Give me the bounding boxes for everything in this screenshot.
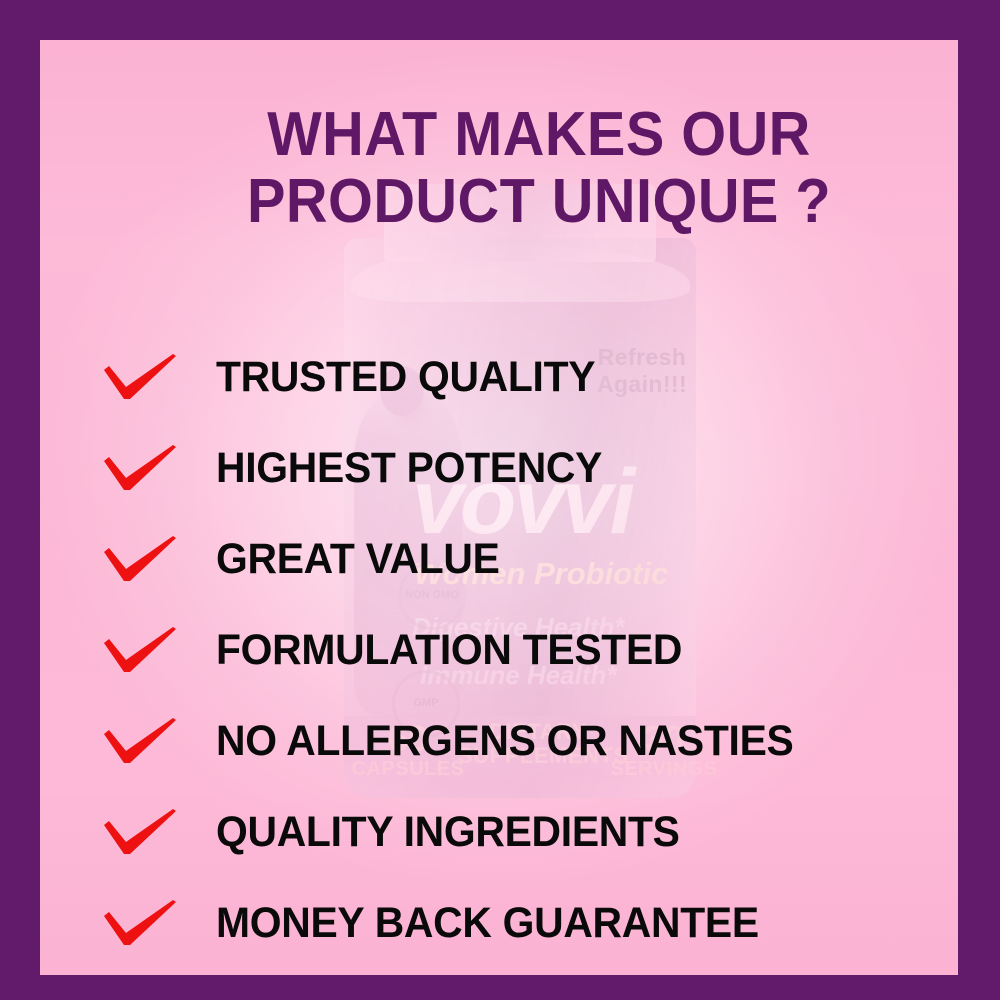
checklist-item: TRUSTED QUALITY [104,332,958,423]
checklist-item-label: QUALITY INGREDIENTS [216,811,680,854]
bottle-shoulder-shape [350,246,690,302]
checkmark-icon [104,627,176,675]
checklist-item: HIGHEST POTENCY [104,423,958,514]
checklist-item-label: FORMULATION TESTED [216,629,682,672]
checkmark-icon [104,900,176,948]
checkmark-icon [104,354,176,402]
checkmark-icon [104,536,176,584]
checklist-item: QUALITY INGREDIENTS [104,787,958,878]
benefits-checklist: TRUSTED QUALITYHIGHEST POTENCYGREAT VALU… [104,332,958,969]
checklist-item: MONEY BACK GUARANTEE [104,878,958,969]
checkmark-icon [104,809,176,857]
checklist-item-label: HIGHEST POTENCY [216,447,602,490]
checklist-item-label: MONEY BACK GUARANTEE [216,902,759,945]
page-title: WHAT MAKES OUR PRODUCT UNIQUE ? [112,102,958,236]
checklist-item-label: GREAT VALUE [216,538,500,581]
checklist-item: NO ALLERGENS OR NASTIES [104,696,958,787]
checklist-item-label: NO ALLERGENS OR NASTIES [216,720,793,763]
checkmark-icon [104,445,176,493]
checklist-item: GREAT VALUE [104,514,958,605]
promo-poster: Refresh Again!!! vovvi Women Probiotic D… [0,0,1000,1000]
checklist-item: FORMULATION TESTED [104,605,958,696]
checklist-item-label: TRUSTED QUALITY [216,356,595,399]
poster-inner-panel: Refresh Again!!! vovvi Women Probiotic D… [40,40,958,975]
checkmark-icon [104,718,176,766]
